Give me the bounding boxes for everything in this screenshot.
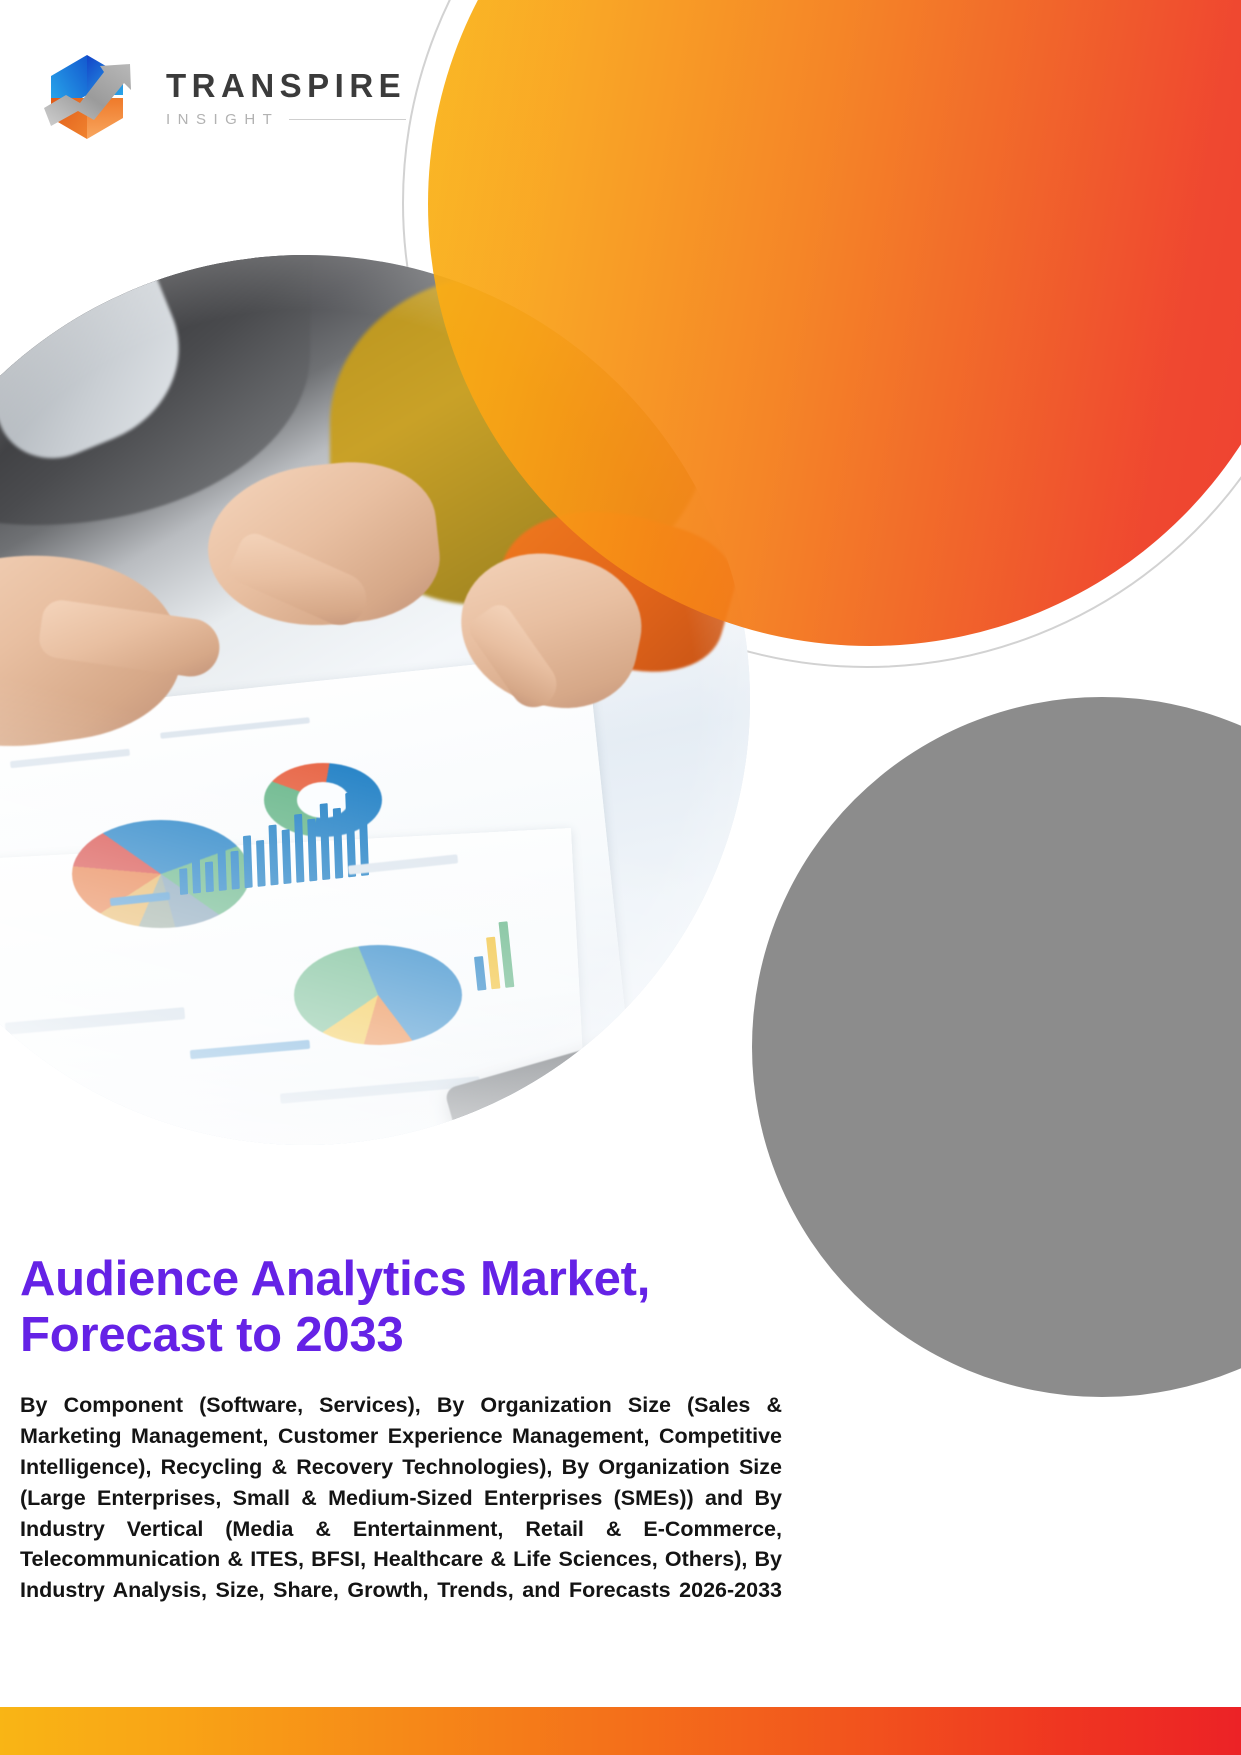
report-cover-page: TRANSPIRE INSIGHT Audience Analytics Mar… — [0, 0, 1241, 1755]
brand-tagline-row: INSIGHT — [166, 112, 406, 127]
brand-tagline-rule — [289, 119, 406, 120]
gray-circle — [752, 697, 1241, 1397]
cover-text-block: Audience Analytics Market, Forecast to 2… — [20, 1252, 782, 1637]
brand-logo[interactable]: TRANSPIRE INSIGHT — [38, 46, 406, 146]
brand-tagline: INSIGHT — [166, 112, 279, 127]
brand-wordmark: TRANSPIRE INSIGHT — [166, 65, 406, 127]
hexagon-cube-growth-arrow-icon — [38, 46, 152, 146]
page-subtitle: By Component (Software, Services), By Or… — [20, 1390, 782, 1638]
page-title: Audience Analytics Market, Forecast to 2… — [20, 1252, 782, 1364]
bottom-gradient-bar — [0, 1707, 1241, 1755]
brand-name: TRANSPIRE — [166, 69, 406, 102]
